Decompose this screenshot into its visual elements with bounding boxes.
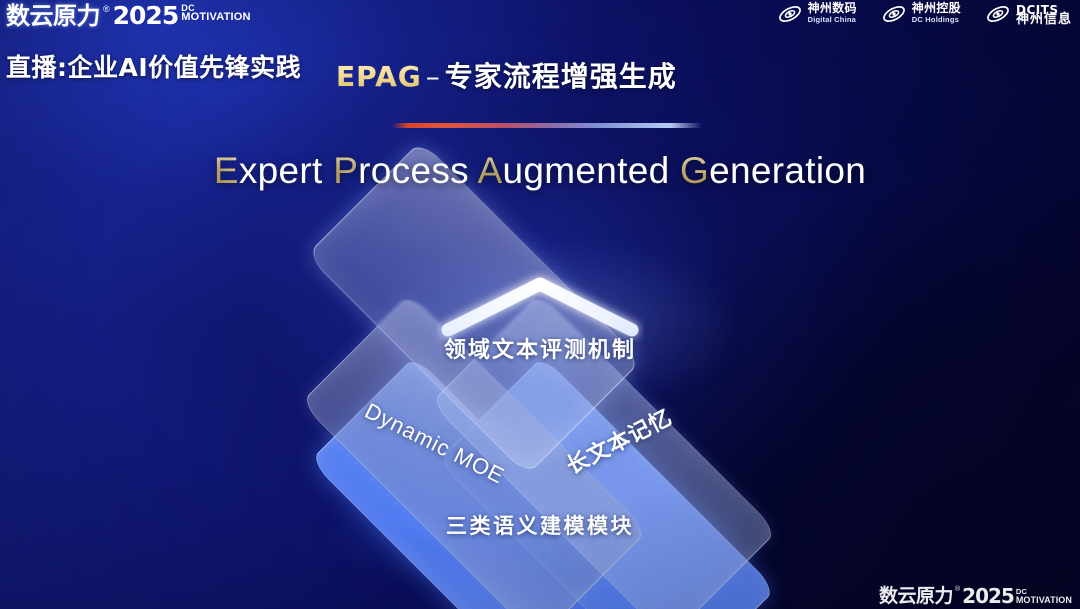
brand-year: 2025: [113, 2, 179, 30]
layer-label-dynamic-moe: Dynamic MOE: [360, 398, 508, 489]
subtitle-cap-p: P: [333, 150, 358, 191]
logo-dc-holdings-cn: 神州控股: [912, 3, 961, 13]
diagram-layer-bottom: [310, 356, 648, 609]
diagram-layer-middle: [301, 294, 648, 609]
brand-name-cn: 数云原力: [6, 2, 100, 30]
diagram-layer-middle-right: [431, 294, 778, 609]
logo-dc-holdings: 神州控股 DC Holdings: [881, 3, 961, 25]
swirl-logo-icon: [777, 3, 803, 25]
partner-logo-group: 神州数码 Digital China 神州控股 DC Holdings: [777, 3, 1072, 25]
title-divider: [392, 123, 702, 128]
title-dash: –: [422, 60, 445, 93]
brand-tagline-line2: MOTIVATION: [181, 13, 250, 22]
logo-dcits: DCITS 神州信息: [985, 3, 1072, 25]
diagram-layer-bottom-right: [438, 356, 776, 609]
slide-subtitle: Expert Process Augmented Generation: [0, 150, 1080, 192]
logo-dcits-text: DCITS 神州信息: [1016, 3, 1072, 25]
subtitle-word-generation: eneration: [709, 150, 866, 191]
live-session-label: 直播:企业AI价值先锋实践: [6, 48, 301, 84]
logo-digital-china-cn: 神州数码: [808, 3, 857, 13]
brand-tagline: DC MOTIVATION: [181, 2, 250, 22]
chevron-up-icon: [436, 270, 644, 342]
swirl-logo-icon: [985, 3, 1011, 25]
logo-dc-holdings-text: 神州控股 DC Holdings: [912, 3, 961, 25]
footer-brand-logo: 数云原力 ® 2025 DC MOTIVATION: [879, 585, 1072, 607]
logo-digital-china-en: Digital China: [808, 15, 857, 25]
footer-brand-tagline: DC MOTIVATION: [1016, 585, 1072, 604]
logo-digital-china-text: 神州数码 Digital China: [808, 3, 857, 25]
brand-logo-top-left: 数云原力 ® 2025 DC MOTIVATION: [6, 2, 251, 30]
footer-brand-year: 2025: [962, 585, 1014, 607]
footer-brand-tagline-line2: MOTIVATION: [1016, 596, 1072, 604]
subtitle-word-expert: xpert: [239, 150, 333, 191]
footer-brand-registered-mark: ®: [955, 585, 960, 595]
title-chinese: 专家流程增强生成: [445, 60, 677, 93]
layer-label-long-text-memory: 长文本记忆: [560, 400, 677, 481]
subtitle-word-process: rocess: [358, 150, 477, 191]
slide-title: EPAG–专家流程增强生成: [336, 55, 677, 95]
logo-dc-holdings-en: DC Holdings: [912, 15, 961, 25]
subtitle-word-augmented: ugmented: [502, 150, 680, 191]
subtitle-cap-g: G: [680, 150, 709, 191]
subtitle-cap-a: A: [478, 150, 503, 191]
logo-dcits-cn: 神州信息: [1016, 15, 1072, 25]
bottom-glow: [330, 470, 760, 590]
top-glow: [360, 245, 730, 405]
logo-digital-china: 神州数码 Digital China: [777, 3, 857, 25]
brand-registered-mark: ®: [103, 2, 110, 16]
title-acronym: EPAG: [336, 60, 422, 93]
layer-label-bottom: 三类语义建模模块: [0, 510, 1080, 540]
subtitle-cap-e: E: [214, 150, 239, 191]
footer-brand-name-cn: 数云原力: [879, 585, 953, 607]
swirl-logo-icon: [881, 3, 907, 25]
slide-canvas: 领域文本评测机制 Dynamic MOE 长文本记忆 三类语义建模模块 数云原力…: [0, 0, 1080, 609]
layer-label-top: 领域文本评测机制: [0, 332, 1080, 364]
